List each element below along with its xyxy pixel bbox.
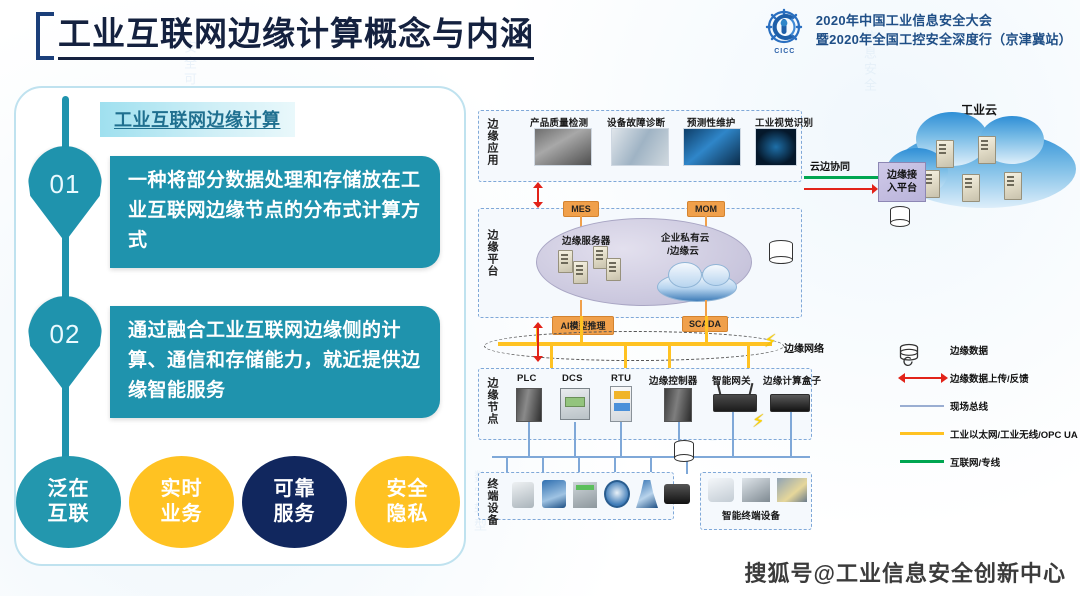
cloud-server-icon-5 (1004, 172, 1022, 200)
app-thumbnail-2 (611, 128, 669, 166)
database-icon (898, 343, 950, 357)
conference-title: 2020年中国工业信息安全大会 暨2020年全国工控安全深度行（京津冀站） (816, 11, 1072, 49)
fieldbus-riser-2 (574, 422, 576, 456)
legend-item-edge-data: 边缘数据 (898, 336, 1078, 364)
motor-icon (664, 484, 690, 504)
node-caption-edge-box: 边缘计算盒子 (763, 373, 821, 387)
edge-network-label: 边缘网络 (784, 340, 824, 355)
wireless-bolt-icon-1: ⚡ (764, 332, 777, 350)
rtu-icon (610, 386, 632, 422)
app-caption-2: 设备故障诊断 (607, 115, 665, 129)
feature-circle-4: 安全 隐私 (355, 456, 460, 548)
edge-access-platform-line1: 边缘接 (887, 169, 917, 182)
feature-circle-2-line1: 实时 (161, 477, 203, 502)
arrow-node-platform-shaft (537, 326, 539, 358)
legend-label-internet: 互联网/专线 (950, 455, 1000, 469)
line-icon-ethernet (898, 427, 950, 441)
node-caption-rtu: RTU (611, 373, 631, 384)
bus-riser-2 (580, 316, 583, 344)
feature-circle-group: 泛在 互联 实时 业务 可靠 服务 安全 隐私 (16, 456, 466, 548)
node-caption-dcs: DCS (562, 373, 583, 384)
arrow-node-platform-up (533, 322, 543, 328)
cloud-server-icon-4 (962, 174, 980, 202)
feature-circle-4-line1: 安全 (387, 477, 429, 502)
feature-circle-1: 泛在 互联 (16, 456, 121, 548)
legend-item-internet: 互联网/专线 (898, 448, 1078, 476)
line-icon-internet (898, 455, 950, 469)
private-cloud-label: 企业私有云 (661, 230, 710, 244)
cloud-server-icon-2 (978, 136, 996, 164)
edge-access-platform-box: 边缘接 入平台 (878, 162, 926, 202)
logo-label: CICC (761, 48, 809, 55)
bus-drop-1 (624, 344, 627, 370)
app-caption-3: 预测性维护 (687, 115, 736, 129)
app-thumbnail-1 (534, 128, 592, 166)
slide-root: 安全可信 工业互联 边缘计算 智能制造 信息安全 融合创新 数字转型 工业互联网… (0, 0, 1080, 596)
conference-line-1: 2020年中国工业信息安全大会 (816, 11, 1072, 30)
layer-terminal-device-label: 终端设备 (485, 478, 498, 526)
layer-edge-application-label: 边缘应用 (485, 118, 498, 166)
fieldbus-riser-3 (620, 422, 622, 456)
ip-camera-icon (708, 478, 734, 502)
concept-badge-label: 工业互联网边缘计算 (114, 110, 281, 130)
feature-circle-1-line1: 泛在 (48, 477, 90, 502)
collab-red-line (804, 188, 876, 190)
bus-riser-3 (705, 316, 708, 344)
edge-network-bus (498, 342, 772, 346)
line-icon-fieldbus (898, 399, 950, 413)
edge-computing-box-icon (770, 394, 810, 412)
fieldbus-riser-5 (732, 412, 734, 456)
concept-badge: 工业互联网边缘计算 (100, 102, 295, 137)
cloud-icon-platform (657, 272, 737, 302)
feature-circle-2: 实时 业务 (129, 456, 234, 548)
flow-meter-icon (604, 480, 630, 508)
step-number-01: 01 (50, 169, 81, 200)
step-text-01: 一种将部分数据处理和存储放在工业互联网边缘节点的分布式计算方式 (110, 156, 440, 268)
legend-item-ethernet: 工业以太网/工业无线/OPC UA (898, 420, 1078, 448)
edge-controller-icon (664, 388, 692, 422)
feature-circle-3: 可靠 服务 (242, 456, 347, 548)
app-thumbnail-4 (755, 128, 797, 166)
legend-item-data-upload: 边缘数据上传/反馈 (898, 364, 1078, 392)
conference-branding: CICC 2020年中国工业信息安全大会 暨2020年全国工控安全深度行（京津冀… (761, 6, 1072, 54)
step-text-02: 通过融合工业互联网边缘侧的计算、通信和存储能力，就近提供边缘智能服务 (110, 306, 440, 418)
feature-circle-2-line2: 业务 (161, 502, 203, 527)
edge-server-label: 边缘服务器 (562, 233, 611, 247)
meter-icon (573, 482, 597, 508)
edge-network-ellipse (484, 331, 784, 361)
cloud-server-icon-1 (936, 140, 954, 168)
dcs-icon (560, 388, 590, 420)
conference-line-2: 暨2020年全国工控安全深度行（京津冀站） (816, 30, 1072, 49)
app-caption-4: 工业视觉识别 (755, 115, 813, 129)
legend-item-fieldbus: 现场总线 (898, 392, 1078, 420)
actuator-icon (542, 480, 566, 508)
bus-drop-4 (747, 344, 750, 370)
slide-header: 工业互联网边缘计算概念与内涵 (0, 0, 1080, 72)
gear-circle-icon: CICC (761, 6, 809, 54)
page-title: 工业互联网边缘计算概念与内涵 (58, 12, 534, 60)
diagram-legend: 边缘数据 边缘数据上传/反馈 现场总线 工业以太网/工业无线/OPC UA (898, 336, 1078, 476)
smart-terminal-label: 智能终端设备 (722, 508, 780, 522)
smart-gateway-icon (713, 394, 757, 412)
title-bracket-decoration (36, 12, 54, 60)
server-icon-4 (606, 258, 621, 281)
database-icon-cloud (890, 206, 910, 228)
edge-cloud-label: /边缘云 (667, 243, 699, 257)
layer-edge-platform-label: 边缘平台 (485, 229, 498, 277)
edge-access-platform-line2: 入平台 (887, 182, 917, 195)
app-thumbnail-3 (683, 128, 741, 166)
database-icon-platform (769, 240, 793, 266)
legend-label-fieldbus: 现场总线 (950, 399, 988, 413)
plc-icon (516, 388, 542, 422)
arrow-node-platform-down (533, 356, 543, 362)
layer-edge-node-label: 边缘节点 (485, 377, 498, 425)
feature-circle-4-line2: 隐私 (387, 502, 429, 527)
double-arrow-icon (898, 371, 950, 385)
bus-drop-2 (550, 344, 553, 370)
bus-drop-3 (668, 344, 671, 370)
step-number-02: 02 (50, 319, 81, 350)
feature-circle-3-line1: 可靠 (274, 477, 316, 502)
sensor-icon (512, 482, 534, 508)
wireless-bolt-icon-2: ⚡ (752, 412, 765, 430)
smart-equipment-icon (777, 478, 807, 502)
cloud-edge-collab-label: 云边协同 (810, 158, 850, 173)
watermark: 搜狐号@工业信息安全创新中心 (745, 556, 1066, 588)
legend-label-edge-data: 边缘数据 (950, 343, 988, 357)
legend-label-data-upload: 边缘数据上传/反馈 (950, 371, 1029, 385)
feature-circle-1-line2: 互联 (48, 502, 90, 527)
node-caption-edge-controller: 边缘控制器 (649, 373, 698, 387)
feature-circle-3-line2: 服务 (274, 502, 316, 527)
server-icon-2 (573, 261, 588, 284)
collab-green-line (804, 176, 878, 179)
smart-device-icon (742, 478, 770, 502)
fieldbus-riser-6 (790, 412, 792, 456)
arrow-app-platform-up (533, 182, 543, 188)
legend-label-ethernet: 工业以太网/工业无线/OPC UA (950, 427, 1078, 441)
database-icon-node (674, 440, 694, 464)
app-caption-1: 产品质量检测 (530, 115, 588, 129)
fieldbus-riser-1 (528, 422, 530, 456)
node-caption-plc: PLC (517, 373, 537, 384)
server-icon-1 (558, 250, 573, 273)
collab-red-arrow (872, 184, 878, 194)
